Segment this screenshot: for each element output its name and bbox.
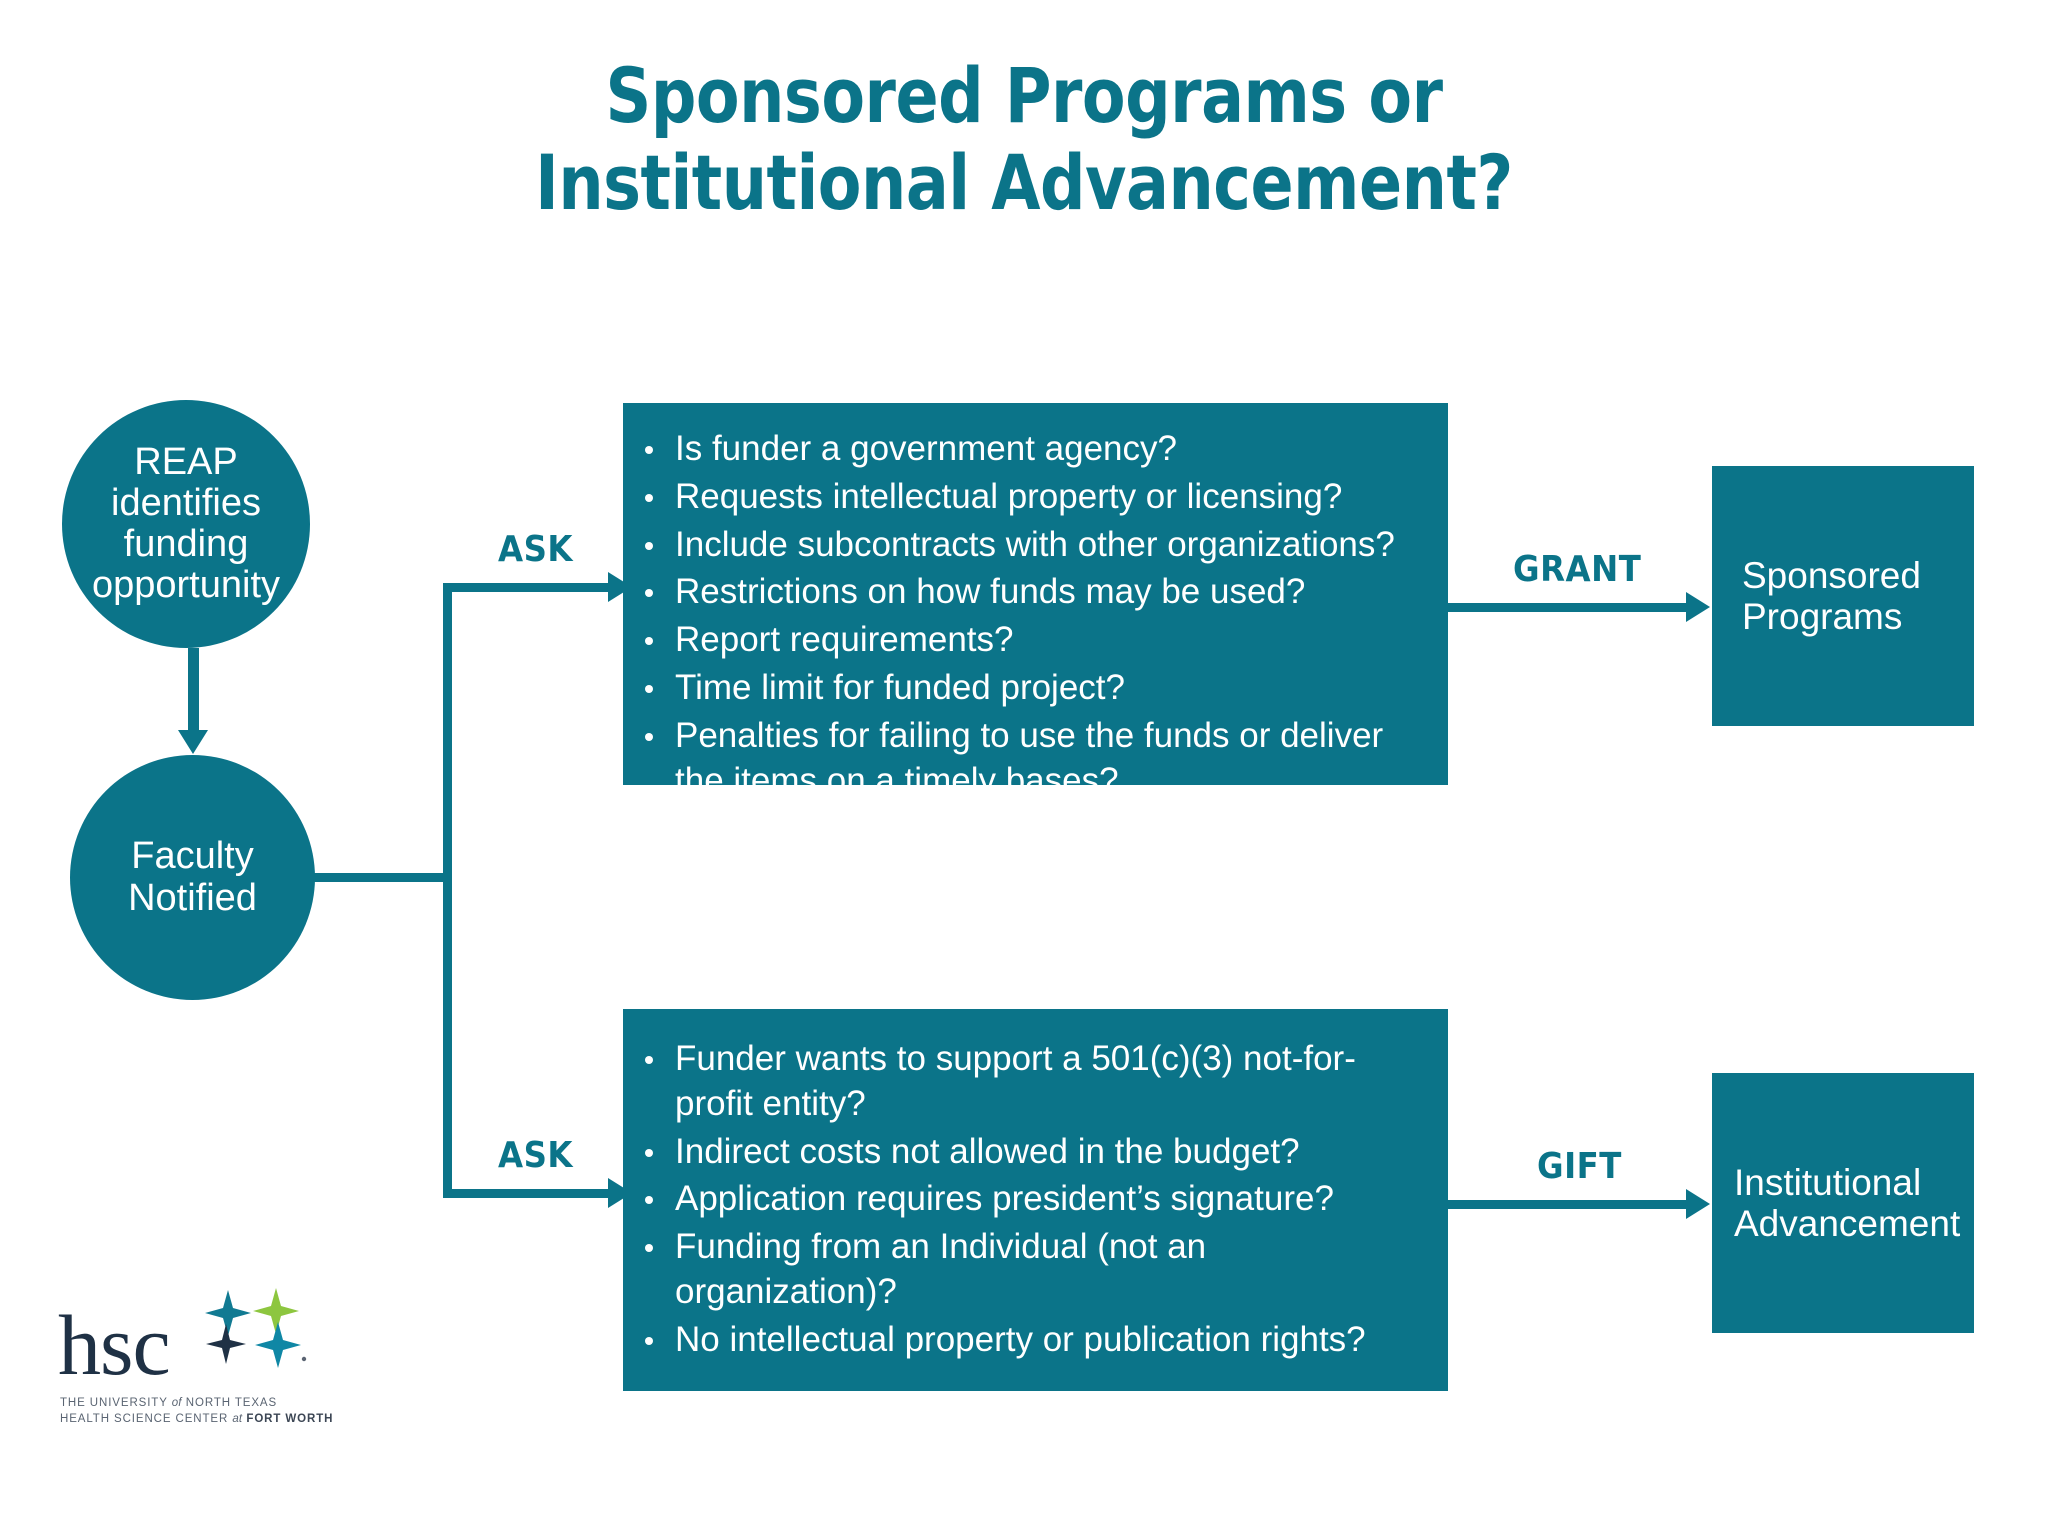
edge-label-ask-top: ASK (498, 529, 573, 570)
connector-gift-line (1448, 1200, 1690, 1209)
reap-line-3: funding (62, 524, 310, 565)
faculty-line-1: Faculty (128, 836, 257, 877)
hsc-tagline-2-pre: HEALTH SCIENCE CENTER (60, 1413, 232, 1425)
hsc-tagline-2-italic: at (232, 1413, 242, 1425)
reap-line-4: opportunity (62, 565, 310, 606)
connector-reap-to-faculty-line (188, 648, 199, 734)
hsc-logo: hsc THE UNIVERSITY of NORTH TEXAS HEALTH… (58, 1288, 318, 1428)
institutional-advancement-line-2: Advancement (1734, 1203, 1960, 1244)
gift-questions-list: Funder wants to support a 501(c)(3) not-… (635, 1037, 1430, 1363)
connector-grant-line (1448, 603, 1690, 612)
node-institutional-advancement[interactable]: Institutional Advancement (1712, 1073, 1974, 1333)
list-item: Restrictions on how funds may be used? (635, 570, 1430, 615)
grant-questions-list: Is funder a government agency? Requests … (635, 427, 1430, 803)
hsc-tagline-1-pre: THE UNIVERSITY (60, 1397, 172, 1409)
sponsored-programs-line-1: Sponsored (1742, 555, 1921, 596)
hsc-wordmark: hsc (58, 1302, 170, 1388)
hsc-sparkle-icon (198, 1288, 308, 1368)
list-item: Indirect costs not allowed in the budget… (635, 1130, 1430, 1175)
sponsored-programs-line-2: Programs (1742, 596, 1921, 637)
list-item: Is funder a government agency? (635, 427, 1430, 472)
connector-gift-arrowhead (1686, 1189, 1710, 1219)
institutional-advancement-line-1: Institutional (1734, 1162, 1960, 1203)
page-title: Sponsored Programs or Institutional Adva… (72, 52, 1977, 227)
hsc-tagline-1-post: NORTH TEXAS (182, 1397, 277, 1409)
list-item: No intellectual property or publication … (635, 1318, 1430, 1363)
reap-line-2: identifies (62, 483, 310, 524)
list-item: Time limit for funded project? (635, 666, 1430, 711)
grant-questions-box[interactable]: Is funder a government agency? Requests … (623, 403, 1448, 785)
list-item: Funder wants to support a 501(c)(3) not-… (635, 1037, 1430, 1127)
edge-label-ask-bottom: ASK (498, 1135, 573, 1176)
connector-reap-to-faculty-arrowhead (178, 730, 208, 754)
list-item: Report requirements? (635, 618, 1430, 663)
connector-ask-top-line (443, 583, 613, 592)
list-item: Funding from an Individual (not an organ… (635, 1225, 1430, 1315)
hsc-tagline-line-2: HEALTH SCIENCE CENTER at FORT WORTH (60, 1412, 333, 1428)
node-faculty-notified[interactable]: Faculty Notified (70, 755, 315, 1000)
node-sponsored-programs[interactable]: Sponsored Programs (1712, 466, 1974, 726)
edge-label-grant: GRANT (1513, 549, 1641, 590)
connector-branch-trunk (443, 583, 452, 1198)
edge-label-gift: GIFT (1537, 1146, 1622, 1187)
faculty-line-2: Notified (128, 878, 257, 919)
hsc-tagline-2-post: FORT WORTH (242, 1413, 333, 1425)
connector-grant-arrowhead (1686, 592, 1710, 622)
hsc-tagline: THE UNIVERSITY of NORTH TEXAS HEALTH SCI… (60, 1396, 333, 1428)
hsc-tagline-line-1: THE UNIVERSITY of NORTH TEXAS (60, 1396, 333, 1412)
connector-faculty-stub (312, 873, 452, 882)
list-item: Requests intellectual property or licens… (635, 475, 1430, 520)
list-item: Penalties for failing to use the funds o… (635, 714, 1430, 804)
list-item: Application requires president’s signatu… (635, 1177, 1430, 1222)
hsc-tagline-1-italic: of (172, 1397, 182, 1409)
connector-ask-bottom-line (443, 1189, 613, 1198)
page-title-line-2: Institutional Advancement? (72, 139, 1977, 226)
reap-line-1: REAP (62, 442, 310, 483)
page-title-line-1: Sponsored Programs or (72, 52, 1977, 139)
list-item: Include subcontracts with other organiza… (635, 523, 1430, 568)
node-reap-identifies-funding-opportunity[interactable]: REAP identifies funding opportunity (62, 400, 310, 648)
gift-questions-box[interactable]: Funder wants to support a 501(c)(3) not-… (623, 1009, 1448, 1391)
